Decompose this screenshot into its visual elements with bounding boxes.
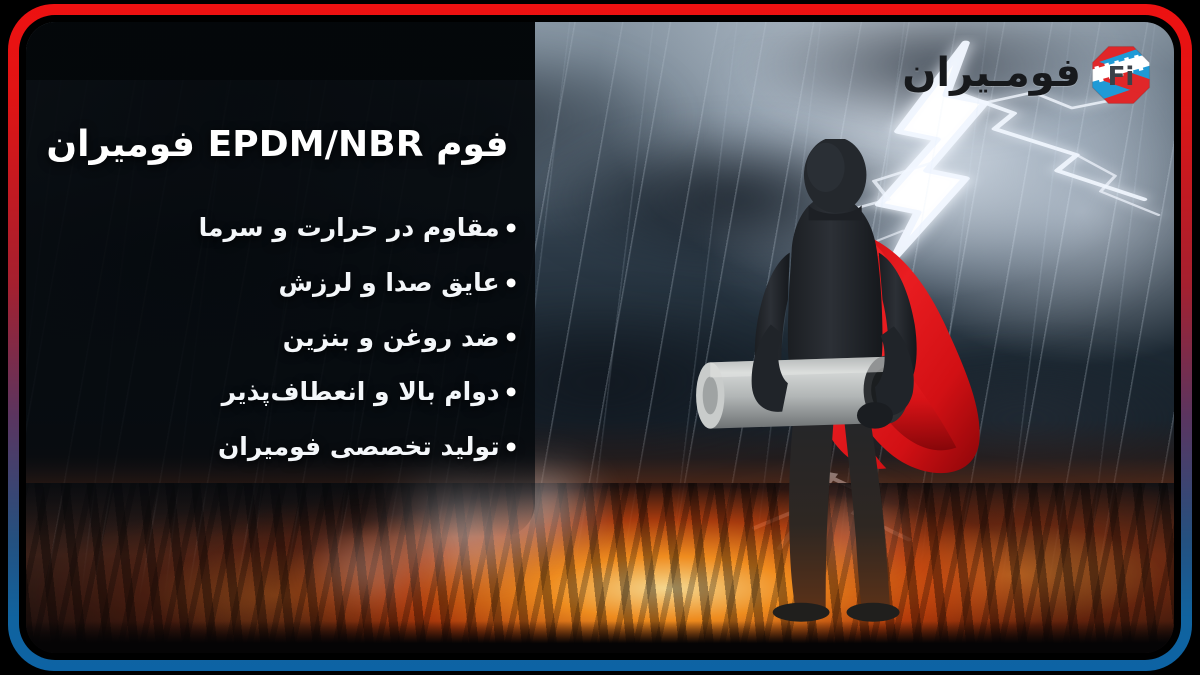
brand-name: فومـیران [902,53,1081,97]
logo-monogram-text: Fi [1108,62,1135,92]
superhero-figure [663,139,1007,631]
feature-item-5: • تولید تخصصی فومیران [36,433,521,462]
feature-item-4: • دوام بالا و انعطاف‌پذیر [36,378,521,407]
page-title: فوم EPDM/NBR فومیران [44,122,509,169]
feature-label: تولید تخصصی فومیران [218,433,500,462]
feature-label: ضد روغن و بنزین [283,324,500,353]
bullet-icon: • [502,216,521,241]
feature-item-2: • عایق صدا و لرزش [36,269,521,298]
feature-label: مقاوم در حرارت و سرما [199,214,500,243]
bullet-icon: • [502,271,521,296]
feature-list: • مقاوم در حرارت و سرما • عایق صدا و لرز… [36,214,521,488]
brand-logo[interactable]: Fi فومـیران [902,44,1152,106]
banner-root: فوم EPDM/NBR فومیران • مقاوم در حرارت و … [0,0,1200,675]
feature-label: دوام بالا و انعطاف‌پذیر [222,378,500,407]
feature-item-3: • ضد روغن و بنزین [36,324,521,353]
scene-photo: فوم EPDM/NBR فومیران • مقاوم در حرارت و … [26,22,1174,653]
foumiran-logo-icon: Fi [1090,44,1152,106]
bullet-icon: • [502,380,521,405]
gradient-border-frame: فوم EPDM/NBR فومیران • مقاوم در حرارت و … [8,4,1192,671]
text-content: فوم EPDM/NBR فومیران • مقاوم در حرارت و … [26,22,543,653]
feature-label: عایق صدا و لرزش [279,269,500,298]
bullet-icon: • [502,435,521,460]
feature-item-1: • مقاوم در حرارت و سرما [36,214,521,243]
bullet-icon: • [502,325,521,350]
inner-black-frame: فوم EPDM/NBR فومیران • مقاوم در حرارت و … [19,15,1181,660]
